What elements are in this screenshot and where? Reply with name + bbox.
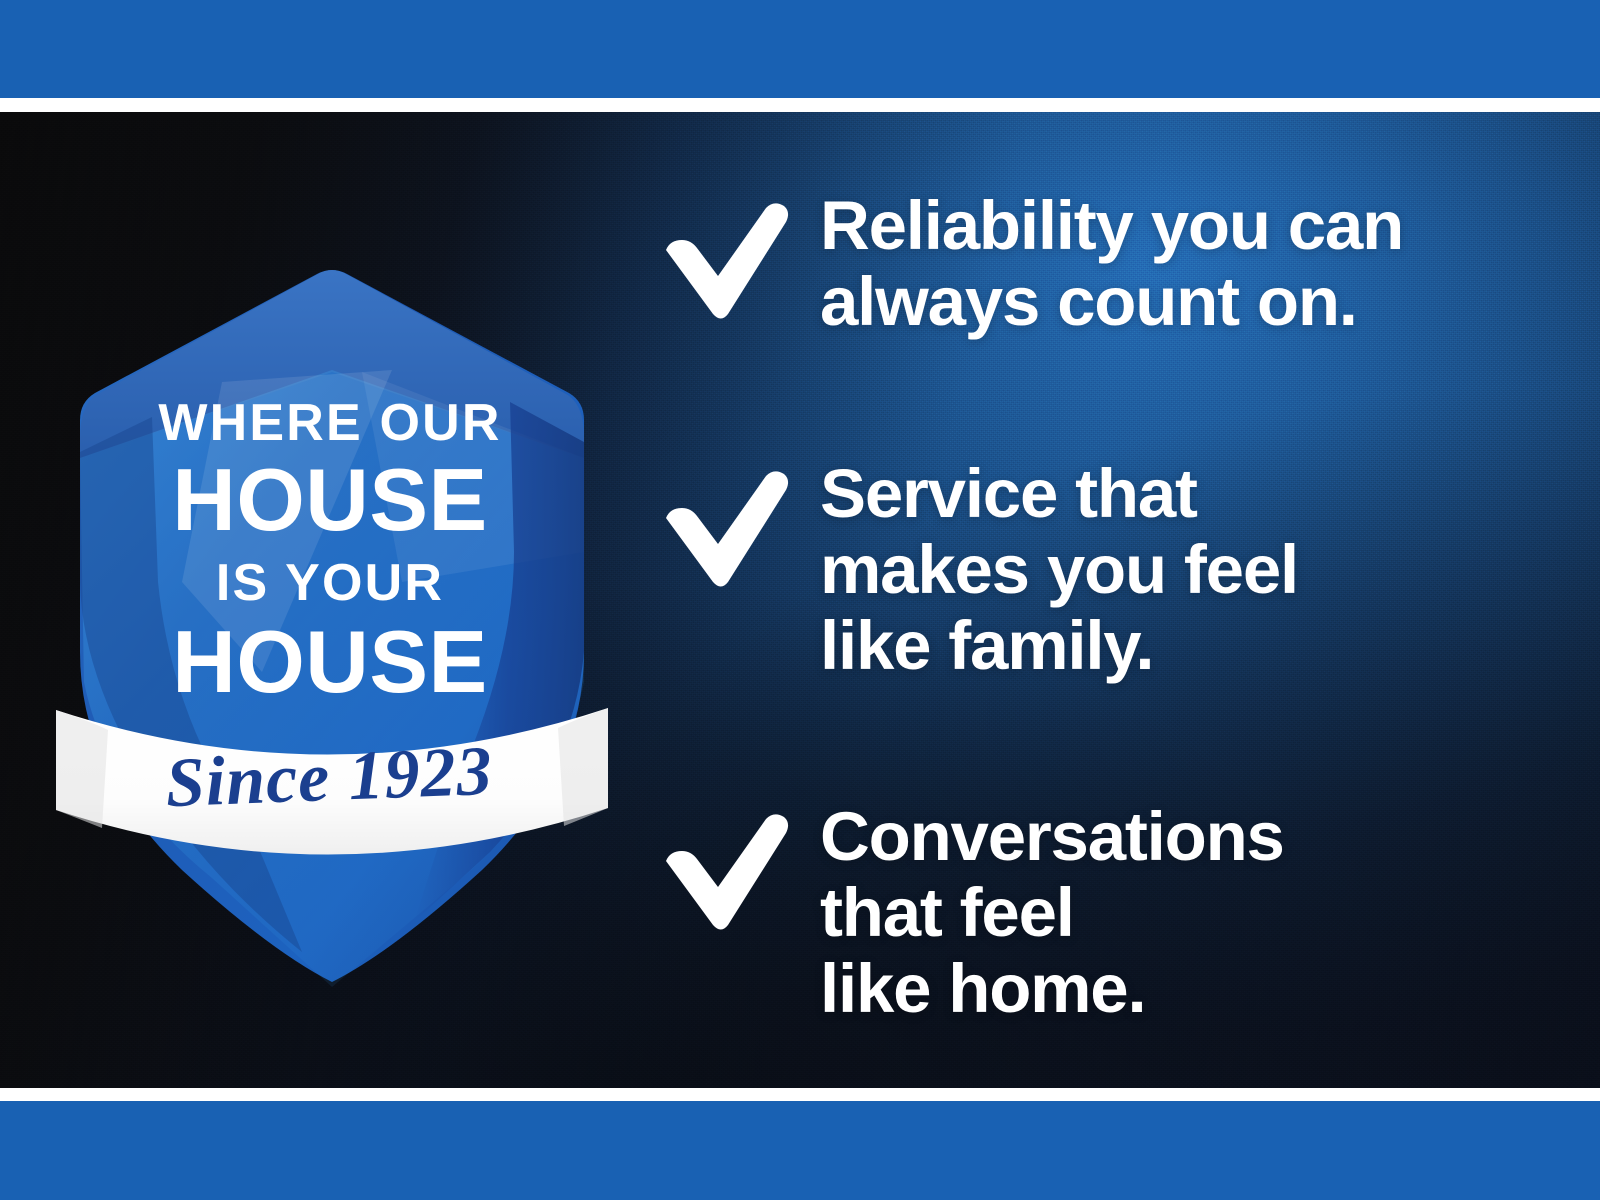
bottom-brand-bar <box>0 1101 1600 1200</box>
shield-line-1: WHERE OUR <box>158 394 501 452</box>
check-icon <box>660 813 792 933</box>
benefits-list: Reliability you can always count on. Ser… <box>660 188 1540 1027</box>
promo-graphic: WHERE OUR HOUSE IS YOUR HOUSE Since 1923 <box>0 0 1600 1200</box>
list-item: Conversations that feel like home. <box>660 799 1540 1027</box>
check-icon <box>660 470 792 590</box>
list-item-label: Reliability you can always count on. <box>820 188 1403 340</box>
bottom-white-rule <box>0 1088 1600 1101</box>
list-item-label: Service that makes you feel like family. <box>820 456 1298 684</box>
shield-line-3: IS YOUR <box>216 554 444 612</box>
list-item-label: Conversations that feel like home. <box>820 799 1284 1027</box>
top-white-rule <box>0 98 1600 112</box>
ribbon-since-text: Since 1923 <box>164 733 494 822</box>
shield-line-4: HOUSE <box>172 612 487 711</box>
ribbon-right-fold <box>558 708 608 826</box>
list-item: Reliability you can always count on. <box>660 188 1540 340</box>
check-icon <box>660 202 792 322</box>
list-item: Service that makes you feel like family. <box>660 456 1540 684</box>
company-shield-badge: WHERE OUR HOUSE IS YOUR HOUSE Since 1923 <box>62 252 602 932</box>
main-panel: WHERE OUR HOUSE IS YOUR HOUSE Since 1923 <box>0 112 1600 1088</box>
top-brand-bar <box>0 0 1600 98</box>
ribbon-left-fold <box>56 710 108 828</box>
shield-line-2: HOUSE <box>172 450 487 549</box>
